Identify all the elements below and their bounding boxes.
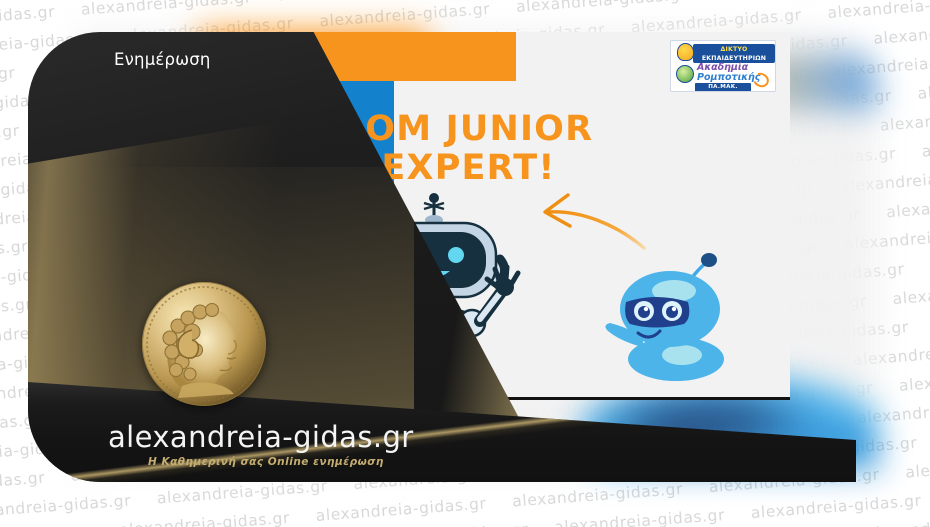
watermark-text: alexandreia-gidas.gr bbox=[277, 0, 449, 4]
alexander-coin-logo bbox=[142, 282, 266, 406]
watermark-text: alexandreia-gidas.gr bbox=[0, 64, 16, 94]
watermark-text: alexandreia-gidas.gr bbox=[80, 0, 252, 19]
watermark-text: alexandreia-gidas.gr bbox=[750, 492, 922, 522]
watermark-text: alexandreia-gidas.gr bbox=[827, 0, 930, 22]
watermark-text: alexandreia-gidas.gr bbox=[917, 72, 930, 102]
watermark-text: alexandreia-gidas.gr bbox=[515, 0, 687, 16]
logo-line-3b: Ρομποτικής bbox=[697, 73, 760, 83]
watermark-text: alexandreia-gidas.gr bbox=[315, 494, 487, 524]
site-brand-name[interactable]: alexandreia-gidas.gr bbox=[108, 420, 414, 454]
watermark-text: alexandreia-gidas.gr bbox=[0, 122, 20, 152]
site-tagline: Η Καθημερινή σας Online ενημέρωση bbox=[148, 456, 384, 468]
watermark-text: alexandreia-gidas.gr bbox=[886, 191, 930, 221]
watermark-text: alexandreia-gidas.gr bbox=[0, 491, 132, 521]
lightbulb-icon bbox=[677, 43, 694, 61]
category-kicker[interactable]: Ενημέρωση bbox=[114, 50, 211, 69]
watermark-text: alexandreia-gidas.gr bbox=[357, 520, 529, 527]
gear-icon bbox=[676, 65, 694, 83]
coin-portrait bbox=[142, 282, 266, 406]
junior-robot-illustration bbox=[596, 247, 736, 382]
watermark-text: alexandreia-gidas.gr bbox=[921, 130, 930, 160]
watermark-text: alexandreia-gidas.gr bbox=[0, 3, 56, 33]
watermark-text: alexandreia-gidas.gr bbox=[712, 0, 884, 1]
watermark-text: alexandreia-gidas.gr bbox=[119, 509, 291, 527]
watermark-text: alexandreia-gidas.gr bbox=[879, 104, 930, 134]
watermark-text: alexandreia-gidas.gr bbox=[0, 0, 93, 1]
watermark-text: alexandreia-gidas.gr bbox=[554, 506, 726, 527]
curved-left-arrow-icon bbox=[538, 190, 654, 250]
watermark-text: alexandreia-gidas.gr bbox=[892, 278, 930, 308]
watermark-text: alexandreia-gidas.gr bbox=[873, 17, 930, 47]
logo-network-bar: ΔΙΚΤΥΟ ΕΚΠΑΙΔΕΥΤΗΡΙΩΝ bbox=[693, 44, 775, 63]
watermark-text: alexandreia-gidas.gr bbox=[905, 451, 930, 481]
watermark-text: alexandreia-gidas.gr bbox=[865, 512, 930, 527]
watermark-text: alexandreia-gidas.gr bbox=[319, 0, 491, 30]
watermark-row: alexandreia-gidas.gralexandreia-gidas.gr… bbox=[0, 503, 930, 527]
screenshot-stage: alexandreia-gidas.gralexandreia-gidas.gr… bbox=[0, 0, 930, 527]
watermark-row: alexandreia-gidas.gralexandreia-gidas.gr… bbox=[0, 0, 930, 13]
logo-line-1: ΔΙΚΤΥΟ bbox=[693, 45, 775, 54]
watermark-text: alexandreia-gidas.gr bbox=[0, 237, 29, 267]
logo-pamak-bar: ΠΑ.ΜΑΚ. bbox=[695, 83, 751, 92]
watermark-text: alexandreia-gidas.gr bbox=[512, 480, 684, 510]
watermark-text: alexandreia-gidas.gr bbox=[898, 364, 930, 394]
logo-academy-text: Ακαδημία Ρομποτικής bbox=[697, 63, 760, 83]
robotics-academy-logo: ΔΙΚΤΥΟ ΕΚΠΑΙΔΕΥΤΗΡΙΩΝ Ακαδημία Ρομποτική… bbox=[670, 40, 776, 92]
watermark-text: alexandreia-gidas.gr bbox=[0, 523, 94, 527]
